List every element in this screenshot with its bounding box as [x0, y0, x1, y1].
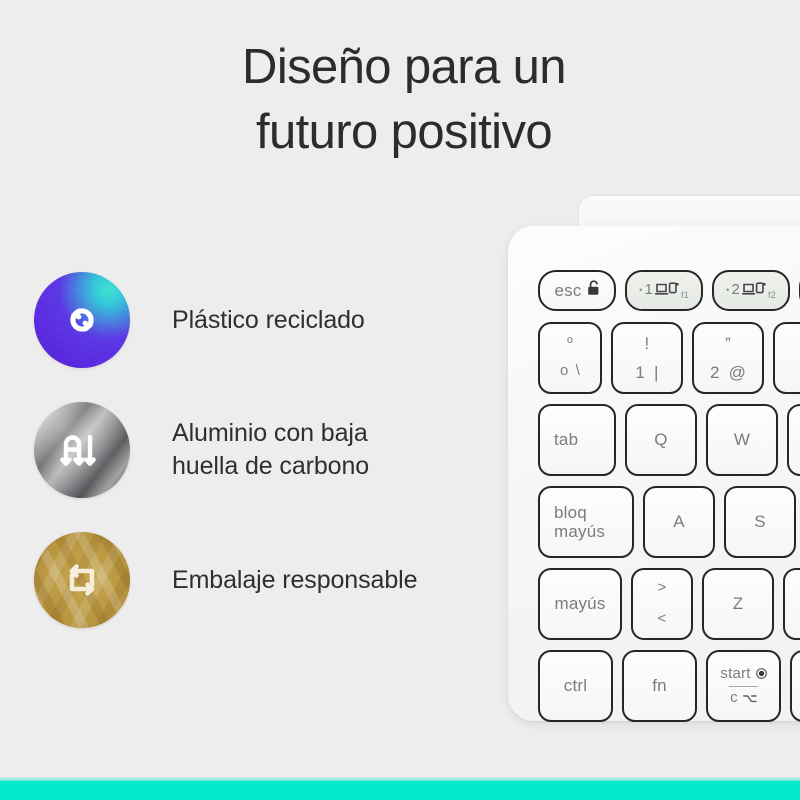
- key-s[interactable]: S: [724, 486, 796, 558]
- key-shift[interactable]: mayús: [538, 568, 622, 640]
- keyboard-chassis: esc • 1: [508, 226, 800, 721]
- key-fn[interactable]: fn: [622, 650, 697, 722]
- key-w[interactable]: W: [706, 404, 778, 476]
- key-label-ordinal-bottom: o: [560, 363, 569, 380]
- option-key-icon: [743, 689, 757, 708]
- key-f2-easy-switch[interactable]: • 2 f2: [712, 270, 790, 311]
- product-feature-panel: Diseño para un futuro positivo: [0, 0, 800, 800]
- key-label-1-extra: |: [654, 363, 659, 382]
- key-ordinal[interactable]: º o \: [538, 322, 602, 394]
- page-title-line-2: futuro positivo: [8, 101, 800, 164]
- key-label-2-top: ”: [725, 334, 731, 353]
- key-tab[interactable]: tab: [538, 404, 616, 476]
- key-f2-dot: •: [726, 285, 729, 295]
- key-label-w: W: [734, 430, 750, 449]
- recycled-plastic-badge: [34, 272, 130, 368]
- key-3[interactable]: ·: [773, 322, 800, 394]
- key-label-angle-bottom: <: [658, 611, 667, 628]
- low-carbon-aluminium-badge: [34, 402, 130, 498]
- key-e[interactable]: E: [787, 404, 800, 476]
- bottom-accent-bar: [0, 781, 800, 800]
- feature-item-low-carbon-aluminium: Aluminio con baja huella de carbono: [34, 385, 494, 515]
- aluminium-down-arrows-icon: [34, 402, 130, 498]
- key-label-1-top: !: [645, 334, 650, 353]
- box-recycle-icon: [34, 532, 130, 628]
- key-label-shift: mayús: [554, 594, 605, 613]
- feature-item-recycled-plastic: Plástico reciclado: [34, 255, 494, 385]
- key-label-q: Q: [654, 430, 667, 449]
- key-2[interactable]: ” 2 @: [692, 322, 764, 394]
- key-1[interactable]: ! 1 |: [611, 322, 683, 394]
- key-label-z: Z: [733, 594, 744, 613]
- key-label-1-bottom: 1: [635, 363, 645, 382]
- feature-label-recycled-plastic: Plástico reciclado: [172, 304, 365, 337]
- key-label-fn: fn: [652, 676, 667, 695]
- page-title-line-1: Diseño para un: [8, 36, 800, 99]
- key-start-opt[interactable]: start c: [706, 650, 781, 722]
- key-label-f1-number: 1: [644, 282, 653, 299]
- key-label-esc: esc: [554, 281, 581, 300]
- keyboard-product-image: esc • 1: [497, 196, 800, 731]
- padlock-open-icon: [587, 280, 600, 300]
- key-esc[interactable]: esc: [538, 270, 616, 311]
- key-label-s: S: [754, 512, 766, 531]
- key-cmd[interactable]: c: [790, 650, 800, 722]
- key-label-angle-top: >: [658, 580, 667, 597]
- key-label-start: start: [720, 666, 750, 683]
- feature-item-responsible-packaging: Embalaje responsable: [34, 515, 494, 645]
- key-label-ordinal-extra: \: [576, 363, 580, 380]
- feature-label-low-carbon-aluminium: Aluminio con baja huella de carbono: [172, 417, 369, 483]
- key-label-f2-number: 2: [731, 282, 740, 299]
- key-start-opt-divider: [729, 686, 759, 687]
- page-title: Diseño para un futuro positivo: [0, 36, 800, 163]
- key-label-2-bottom: 2: [710, 363, 720, 382]
- key-z[interactable]: Z: [702, 568, 774, 640]
- key-caps-lock[interactable]: bloq mayús: [538, 486, 634, 558]
- easy-switch-device-icon: [742, 281, 766, 300]
- easy-switch-device-icon: [655, 281, 679, 300]
- key-label-caps-lock: bloq mayús: [554, 503, 605, 541]
- key-q[interactable]: Q: [625, 404, 697, 476]
- key-label-f1: f1: [681, 290, 689, 300]
- sustainability-feature-list: Plástico reciclado: [34, 255, 494, 645]
- feature-label-responsible-packaging: Embalaje responsable: [172, 564, 417, 597]
- key-ctrl[interactable]: ctrl: [538, 650, 613, 722]
- key-x[interactable]: X: [783, 568, 800, 640]
- key-label-ctrl: ctrl: [564, 676, 587, 695]
- key-a[interactable]: A: [643, 486, 715, 558]
- key-label-f2: f2: [768, 290, 776, 300]
- key-label-2-extra: @: [729, 363, 746, 382]
- key-label-opt: c: [730, 690, 738, 707]
- recycle-loop-icon: [34, 272, 130, 368]
- key-label-ordinal-top: º: [567, 336, 573, 353]
- responsible-packaging-badge: [34, 532, 130, 628]
- key-label-a: A: [673, 512, 685, 531]
- keyboard-key-grid: esc • 1: [508, 226, 800, 721]
- key-f1-easy-switch[interactable]: • 1 f1: [625, 270, 703, 311]
- key-label-tab: tab: [554, 430, 578, 449]
- windows-start-icon: [756, 664, 767, 683]
- key-angle-brackets[interactable]: > <: [631, 568, 693, 640]
- key-f1-dot: •: [639, 285, 642, 295]
